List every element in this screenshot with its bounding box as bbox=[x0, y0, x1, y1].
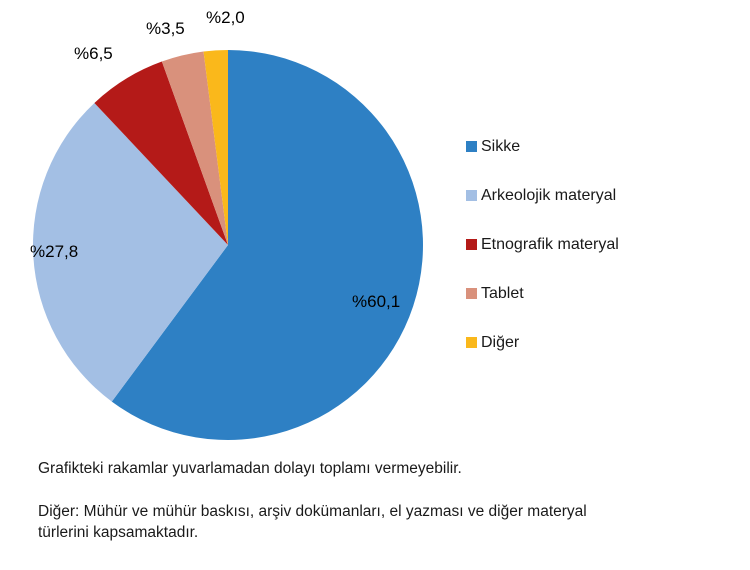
legend-item[interactable]: Diğer bbox=[466, 334, 736, 351]
pie-graphic bbox=[0, 0, 470, 450]
chart-legend: SikkeArkeolojik materyalEtnografik mater… bbox=[466, 138, 736, 383]
footnote-other-definition: Diğer: Mühür ve mühür baskısı, arşiv dok… bbox=[38, 501, 613, 543]
pie-slices bbox=[33, 50, 423, 440]
legend-label: Diğer bbox=[481, 334, 519, 351]
legend-item[interactable]: Arkeolojik materyal bbox=[466, 187, 736, 204]
legend-label: Tablet bbox=[481, 285, 524, 302]
legend-item[interactable]: Sikke bbox=[466, 138, 736, 155]
footnote-rounding: Grafikteki rakamlar yuvarlamadan dolayı … bbox=[38, 458, 698, 479]
legend-swatch-icon bbox=[466, 141, 477, 152]
pie-chart: %60,1 %27,8 %6,5 %3,5 %2,0 SikkeArkeoloj… bbox=[0, 0, 750, 450]
legend-label: Arkeolojik materyal bbox=[481, 187, 616, 204]
chart-footnotes: Grafikteki rakamlar yuvarlamadan dolayı … bbox=[38, 458, 698, 543]
slice-label-diger: %2,0 bbox=[206, 8, 245, 28]
slice-label-arkeolojik: %27,8 bbox=[30, 242, 78, 262]
legend-item[interactable]: Etnografik materyal bbox=[466, 236, 736, 253]
legend-item[interactable]: Tablet bbox=[466, 285, 736, 302]
legend-swatch-icon bbox=[466, 288, 477, 299]
slice-label-sikke: %60,1 bbox=[352, 292, 400, 312]
slice-label-etnografik: %6,5 bbox=[74, 44, 113, 64]
slice-label-tablet: %3,5 bbox=[146, 19, 185, 39]
legend-swatch-icon bbox=[466, 190, 477, 201]
legend-label: Sikke bbox=[481, 138, 520, 155]
legend-swatch-icon bbox=[466, 337, 477, 348]
legend-swatch-icon bbox=[466, 239, 477, 250]
legend-label: Etnografik materyal bbox=[481, 236, 619, 253]
